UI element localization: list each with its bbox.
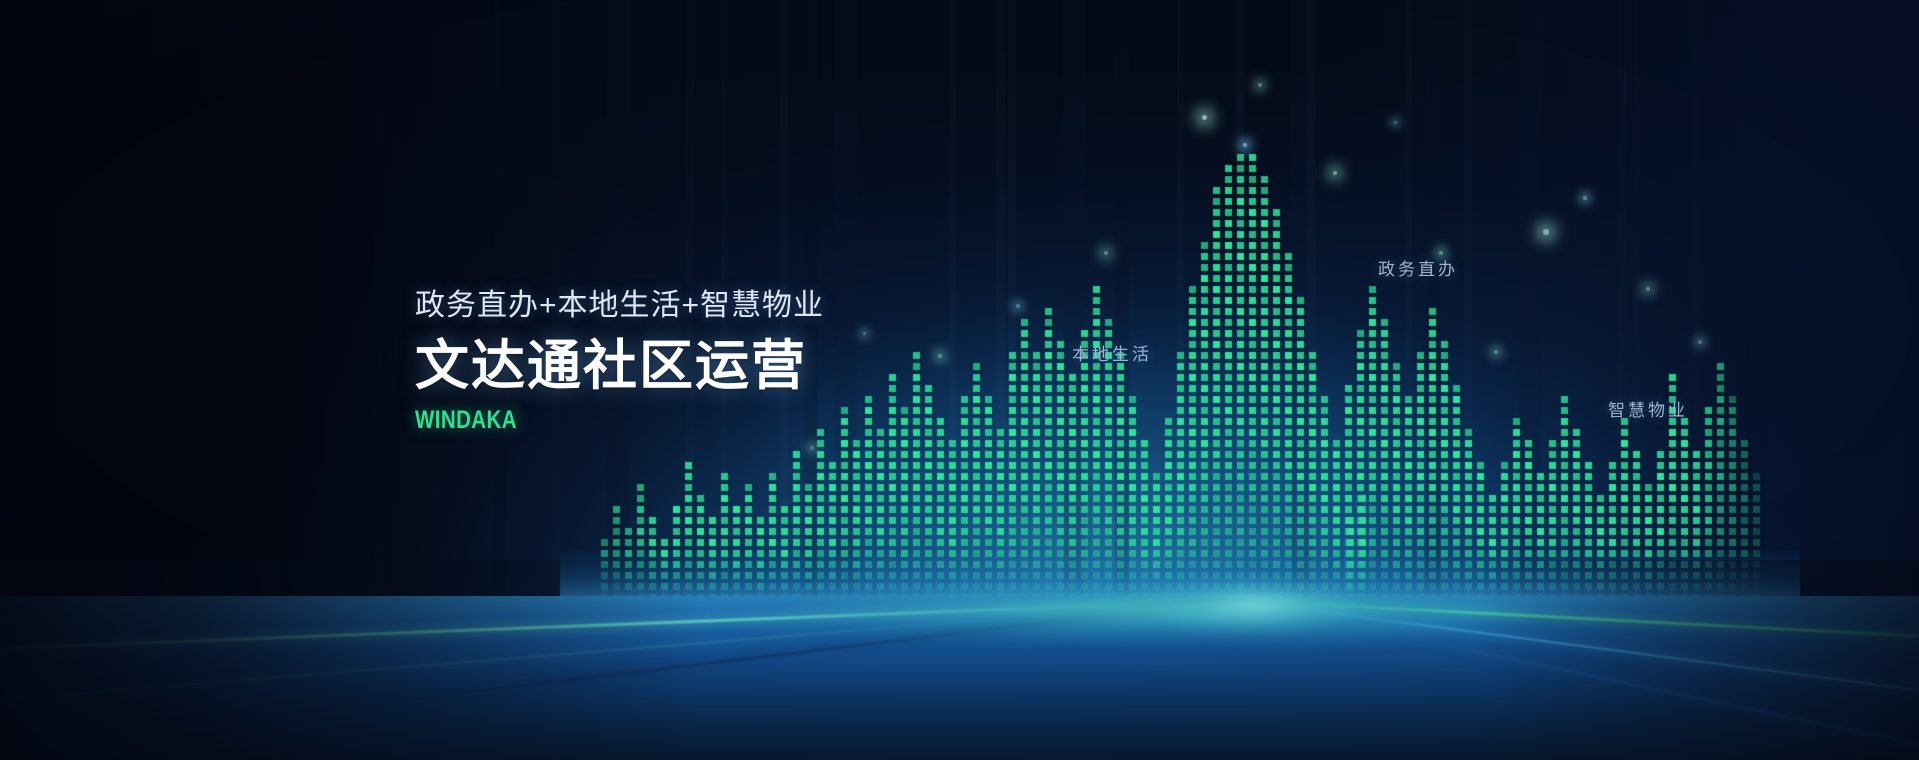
floating-label-0: 政务直办 xyxy=(1378,255,1458,280)
banner-subtitle: 政务直办+本地生活+智慧物业 xyxy=(415,288,824,324)
headline-text-block: 政务直办+本地生活+智慧物业 文达通社区运营 WINDAKA xyxy=(415,288,824,435)
hero-banner: 政务直办本地生活智慧物业 政务直办+本地生活+智慧物业 文达通社区运营 WIND… xyxy=(0,0,1919,760)
brand-wordmark: WINDAKA xyxy=(415,406,750,435)
vignette-overlay xyxy=(0,0,1919,760)
floating-label-1: 本地生活 xyxy=(1072,340,1152,365)
banner-title: 文达通社区运营 xyxy=(415,336,824,396)
floating-label-2: 智慧物业 xyxy=(1608,396,1688,421)
